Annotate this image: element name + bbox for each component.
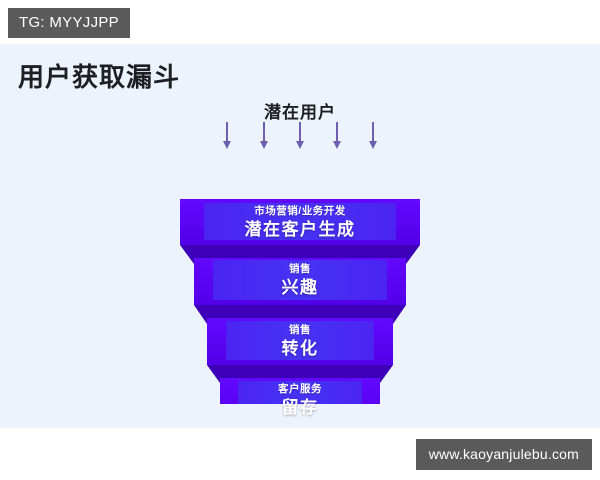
arrow-head: [223, 141, 231, 149]
site-watermark: www.kaoyanjulebu.com: [416, 439, 592, 470]
page-title: 用户获取漏斗: [18, 57, 180, 94]
funnel-stage-3[interactable]: [207, 318, 393, 383]
arrow-head: [333, 141, 341, 149]
arrow-down-icon: [259, 122, 269, 150]
arrow-shaft: [226, 122, 228, 143]
funnel-stage-1[interactable]: [180, 199, 420, 264]
slide-canvas: 用户获取漏斗 潜在用户: [0, 44, 600, 428]
arrow-down-icon: [332, 122, 342, 150]
inflow-arrow-row: [222, 122, 378, 152]
funnel-stage-2[interactable]: [194, 258, 406, 324]
arrow-shaft: [372, 122, 374, 143]
funnel-chart: 市场营销/业务开发 潜在客户生成 销售 兴趣 销售 转化 客户服务 留存: [0, 154, 600, 404]
arrow-head: [369, 141, 377, 149]
arrow-head: [260, 141, 268, 149]
tg-watermark-badge: TG: MYYJJPP: [8, 8, 130, 38]
funnel-stage-4[interactable]: [220, 378, 380, 404]
arrow-down-icon: [295, 122, 305, 150]
funnel-inflow-label: 潜在用户: [0, 98, 600, 123]
arrow-shaft: [336, 122, 338, 143]
arrow-shaft: [299, 122, 301, 143]
funnel-shapes: [0, 154, 600, 404]
arrow-head: [296, 141, 304, 149]
arrow-down-icon: [368, 122, 378, 150]
arrow-shaft: [263, 122, 265, 143]
arrow-down-icon: [222, 122, 232, 150]
